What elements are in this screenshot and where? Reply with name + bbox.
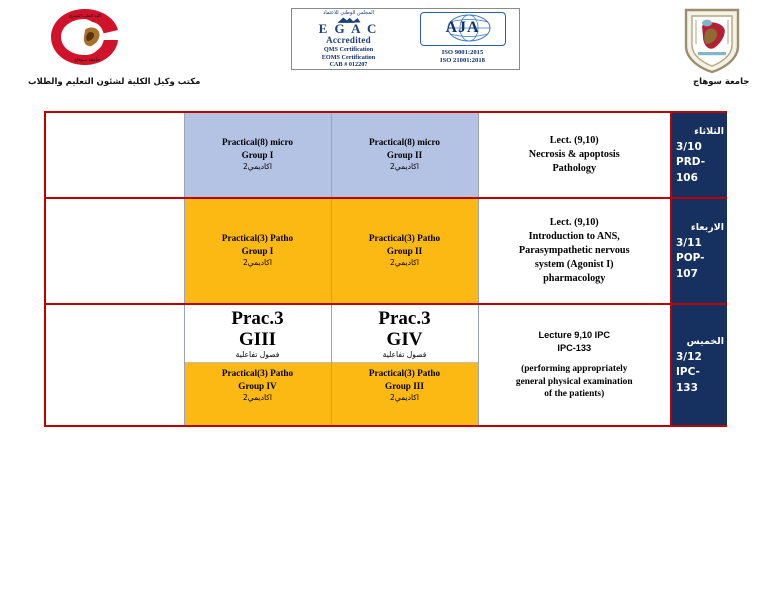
iso-line-1: ISO 9001:2015 bbox=[440, 49, 485, 57]
row-1-lecture-content: Lect. (9,10) Necrosis & apoptosis Pathol… bbox=[479, 130, 671, 180]
row-2-lecture-line-3: Parasympathetic nervous bbox=[482, 244, 668, 258]
row-1-lecture-cell[interactable]: Lect. (9,10) Necrosis & apoptosis Pathol… bbox=[478, 112, 671, 198]
aja-globe-frame: AJA bbox=[420, 12, 506, 46]
weekly-schedule-table: Practical(8) micro Group I اكاديمي2 Prac… bbox=[44, 111, 727, 427]
iso-line-2: ISO 21001:2018 bbox=[440, 57, 485, 65]
page-header: كلية الطب البشري جامعة سوهاج المجلس الوط… bbox=[0, 0, 768, 105]
accreditation-certificate-badge: المجلس الوطني للاعتماد E G A C Accredite… bbox=[291, 8, 520, 70]
table-row: Practical(3) Patho Group I اكاديمي2 Prac… bbox=[45, 198, 727, 304]
aja-badge: AJA ISO 9001:2015 ISO 21001:2018 bbox=[406, 9, 519, 69]
row-3-group-1-top-venue: فصول تفاعلية bbox=[187, 350, 329, 359]
row-1-lecture-line-2: Necrosis & apoptosis bbox=[482, 148, 668, 162]
row-2-lecture-line-1: Lect. (9,10) bbox=[482, 216, 668, 230]
row-1-group-1-group: Group I bbox=[188, 149, 328, 162]
row-3-group-2-title: Practical(3) Patho bbox=[334, 367, 476, 380]
row-1-empty-slot[interactable] bbox=[45, 112, 184, 198]
row-1-group-1-venue: اكاديمي2 bbox=[188, 161, 328, 174]
university-name-caption: جامعة سوهاج bbox=[693, 77, 749, 87]
row-2-day-content: الاربعاء 3/11 POP- 107 bbox=[672, 220, 727, 282]
egac-cert-lines: QMS Certification EOMS Certification CAB… bbox=[322, 46, 375, 69]
row-3-group-1-bottom-block: Practical(3) Patho Group IV اكاديمي2 bbox=[185, 363, 331, 409]
schedule-page: كلية الطب البشري جامعة سوهاج المجلس الوط… bbox=[0, 0, 768, 593]
weekly-schedule-table-wrapper: Practical(8) micro Group I اكاديمي2 Prac… bbox=[44, 111, 726, 427]
row-3-group-2-group: Group III bbox=[334, 380, 476, 393]
aja-wordmark: AJA bbox=[421, 19, 505, 37]
row-3-lecture-note-1: (performing appropriately bbox=[483, 363, 667, 376]
row-2-group-2-group: Group II bbox=[335, 245, 475, 258]
row-2-group-2-content: Practical(3) Patho Group II اكاديمي2 bbox=[332, 228, 478, 274]
row-2-lecture-content: Lect. (9,10) Introduction to ANS, Parasy… bbox=[479, 212, 671, 290]
row-1-group-2-title: Practical(8) micro bbox=[335, 136, 475, 149]
row-2-group-1-group: Group I bbox=[188, 245, 328, 258]
row-1-group-1-content: Practical(8) micro Group I اكاديمي2 bbox=[185, 132, 331, 178]
svg-text:كلية الطب البشري: كلية الطب البشري bbox=[69, 13, 102, 18]
row-2-empty-slot[interactable] bbox=[45, 198, 184, 304]
egac-arabic-caption: المجلس الوطني للاعتماد bbox=[323, 10, 374, 17]
row-3-group-1-group: Group IV bbox=[187, 380, 329, 393]
row-3-lecture-note-3: of the patients) bbox=[483, 388, 667, 401]
egac-line-3: CAB # 012207 bbox=[322, 61, 375, 69]
row-2-day-cell[interactable]: الاربعاء 3/11 POP- 107 bbox=[671, 198, 727, 304]
row-3-lecture-heading-1: Lecture 9,10 IPC bbox=[483, 329, 667, 342]
row-2-day-code-2: 107 bbox=[676, 267, 727, 283]
row-3-group-2-cell[interactable]: Prac.3 GIV فصول تفاعلية Practical(3) Pat… bbox=[331, 304, 478, 426]
row-1-lecture-line-1: Lect. (9,10) bbox=[482, 134, 668, 148]
row-3-lecture-heading-2: IPC-133 bbox=[483, 342, 667, 355]
vice-dean-office-caption: مكتب وكيل الكلية لشئون التعليم والطلاب bbox=[28, 77, 200, 87]
row-3-group-2-bottom-block: Practical(3) Patho Group III اكاديمي2 bbox=[332, 363, 478, 409]
row-1-day-date: 3/10 bbox=[676, 140, 727, 156]
egac-accredited-label: Accredited bbox=[326, 35, 371, 45]
row-2-group-1-cell[interactable]: Practical(3) Patho Group I اكاديمي2 bbox=[184, 198, 331, 304]
sohag-university-emblem bbox=[676, 6, 748, 74]
row-1-day-content: الثلاثاء 3/10 PRD- 106 bbox=[672, 124, 727, 186]
table-row: Prac.3 GIII فصول تفاعلية Practical(3) Pa… bbox=[45, 304, 727, 426]
row-3-group-1-bottom-content: Practical(3) Patho Group IV اكاديمي2 bbox=[187, 367, 329, 405]
row-1-group-2-content: Practical(8) micro Group II اكاديمي2 bbox=[332, 132, 478, 178]
row-2-lecture-line-4: system (Agonist I) bbox=[482, 258, 668, 272]
row-3-empty-slot[interactable] bbox=[45, 304, 184, 426]
row-3-lecture-note-2: general physical examination bbox=[483, 376, 667, 389]
row-3-group-1-top-title: Prac.3 bbox=[187, 308, 329, 329]
row-2-lecture-cell[interactable]: Lect. (9,10) Introduction to ANS, Parasy… bbox=[478, 198, 671, 304]
egac-line-1: QMS Certification bbox=[322, 46, 375, 54]
row-3-day-code-1: IPC- bbox=[676, 365, 727, 381]
row-3-group-2-top-block: Prac.3 GIV فصول تفاعلية bbox=[332, 305, 478, 363]
row-1-day-code-1: PRD- bbox=[676, 155, 727, 171]
egac-wordmark: E G A C bbox=[319, 23, 379, 35]
row-3-day-date: 3/12 bbox=[676, 350, 727, 366]
row-3-lecture-cell[interactable]: Lecture 9,10 IPC IPC-133 (performing app… bbox=[478, 304, 671, 426]
row-1-day-code-2: 106 bbox=[676, 171, 727, 187]
row-3-group-2-top-title: Prac.3 bbox=[334, 308, 476, 329]
row-3-group-1-top-block: Prac.3 GIII فصول تفاعلية bbox=[185, 305, 331, 363]
svg-text:جامعة سوهاج: جامعة سوهاج bbox=[74, 58, 100, 63]
row-3-lecture-note: (performing appropriately general physic… bbox=[483, 363, 667, 401]
row-3-day-content: الخميس 3/12 IPC- 133 bbox=[672, 334, 727, 396]
row-3-group-1-top-group: GIII bbox=[187, 329, 329, 350]
row-1-day-cell[interactable]: الثلاثاء 3/10 PRD- 106 bbox=[671, 112, 727, 198]
row-2-day-code-1: POP- bbox=[676, 251, 727, 267]
row-1-day-name: الثلاثاء bbox=[676, 124, 727, 140]
row-2-group-1-title: Practical(3) Patho bbox=[188, 232, 328, 245]
row-3-day-cell[interactable]: الخميس 3/12 IPC- 133 bbox=[671, 304, 727, 426]
row-1-group-2-group: Group II bbox=[335, 149, 475, 162]
row-3-group-2-bottom-content: Practical(3) Patho Group III اكاديمي2 bbox=[334, 367, 476, 405]
row-3-group-2-venue: اكاديمي2 bbox=[334, 392, 476, 405]
row-3-day-name: الخميس bbox=[676, 334, 727, 350]
table-row: Practical(8) micro Group I اكاديمي2 Prac… bbox=[45, 112, 727, 198]
row-1-lecture-line-3: Pathology bbox=[482, 162, 668, 176]
row-2-group-1-content: Practical(3) Patho Group I اكاديمي2 bbox=[185, 228, 331, 274]
row-3-group-1-title: Practical(3) Patho bbox=[187, 367, 329, 380]
row-1-group-1-title: Practical(8) micro bbox=[188, 136, 328, 149]
row-3-lecture-content: Lecture 9,10 IPC IPC-133 (performing app… bbox=[479, 324, 671, 406]
sohag-faculty-of-medicine-logo: كلية الطب البشري جامعة سوهاج bbox=[45, 6, 125, 68]
row-1-group-2-venue: اكاديمي2 bbox=[335, 161, 475, 174]
row-3-day-code-2: 133 bbox=[676, 381, 727, 397]
row-3-group-1-cell[interactable]: Prac.3 GIII فصول تفاعلية Practical(3) Pa… bbox=[184, 304, 331, 426]
row-3-group-2-top-group: GIV bbox=[334, 329, 476, 350]
row-1-group-2-cell[interactable]: Practical(8) micro Group II اكاديمي2 bbox=[331, 112, 478, 198]
row-3-group-1-venue: اكاديمي2 bbox=[187, 392, 329, 405]
row-2-group-1-venue: اكاديمي2 bbox=[188, 257, 328, 270]
egac-line-2: EOMS Certification bbox=[322, 54, 375, 62]
row-2-group-2-cell[interactable]: Practical(3) Patho Group II اكاديمي2 bbox=[331, 198, 478, 304]
row-3-group-2-top-venue: فصول تفاعلية bbox=[334, 350, 476, 359]
row-2-lecture-line-5: pharmacology bbox=[482, 272, 668, 286]
row-2-group-2-venue: اكاديمي2 bbox=[335, 257, 475, 270]
row-2-lecture-line-2: Introduction to ANS, bbox=[482, 230, 668, 244]
row-1-group-1-cell[interactable]: Practical(8) micro Group I اكاديمي2 bbox=[184, 112, 331, 198]
egac-badge: المجلس الوطني للاعتماد E G A C Accredite… bbox=[292, 9, 406, 69]
row-2-day-name: الاربعاء bbox=[676, 220, 727, 236]
row-2-group-2-title: Practical(3) Patho bbox=[335, 232, 475, 245]
aja-iso-lines: ISO 9001:2015 ISO 21001:2018 bbox=[440, 49, 485, 65]
row-2-day-date: 3/11 bbox=[676, 236, 727, 252]
